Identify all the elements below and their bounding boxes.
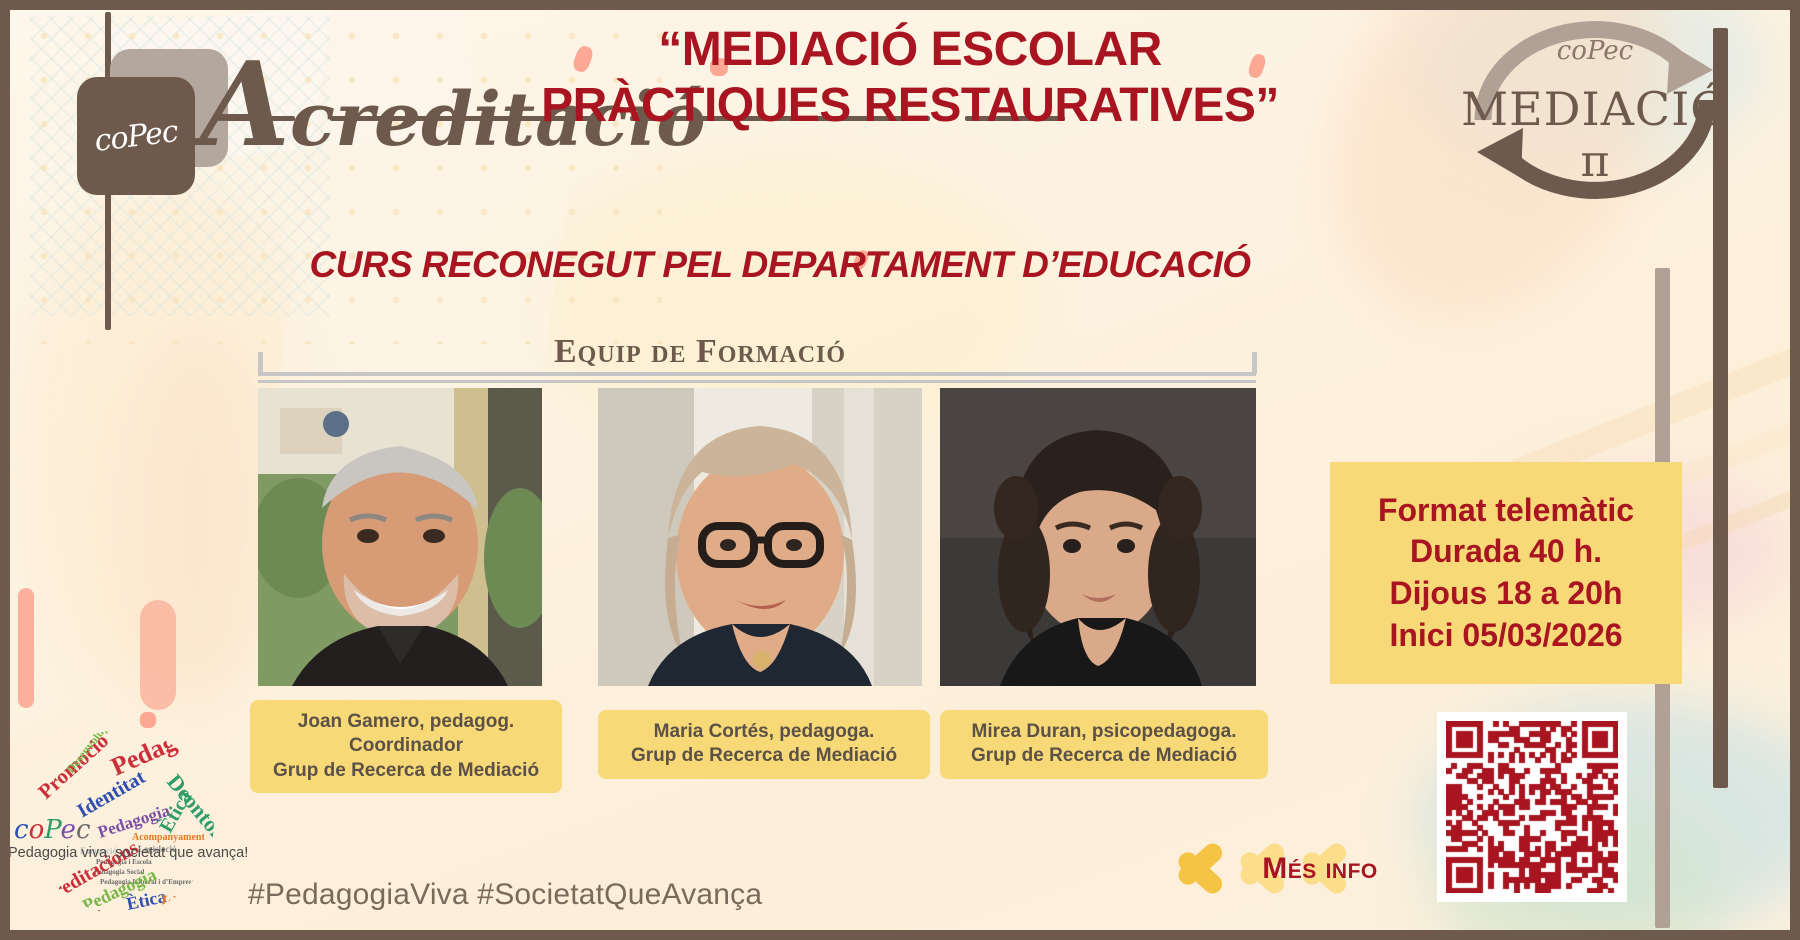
copec-script-mark: coPec (70, 70, 202, 202)
team-frame-rule-top-secondary (258, 380, 1256, 383)
poster-canvas: coPec Acreditació coPec MEDIACIÓ π “MEDI… (0, 0, 1800, 940)
coral-bar-left-2 (140, 600, 176, 710)
qr-code[interactable] (1437, 712, 1627, 902)
course-start-date: Inici 05/03/2026 (1389, 615, 1622, 657)
team-member-group: Grup de Recerca de Mediació (946, 744, 1262, 768)
team-member-role: Coordinador (256, 734, 556, 758)
mediacio-logo: coPec MEDIACIÓ π (1445, 8, 1745, 208)
poster-title-line-1: “MEDIACIÓ ESCOLAR (380, 22, 1440, 78)
coral-bar-left (18, 588, 34, 708)
more-info-cta[interactable]: Més info (1175, 828, 1445, 910)
team-frame-rule-top (258, 372, 1256, 376)
team-member-name: Joan Gamero, pedagog. (256, 710, 556, 734)
poster-title: “MEDIACIÓ ESCOLAR PRÀCTIQUES RESTAURATIV… (380, 22, 1440, 134)
team-member-group: Grup de Recerca de Mediació (604, 744, 924, 768)
qr-code-canvas (1446, 721, 1618, 893)
team-member-caption: Joan Gamero, pedagog. Coordinador Grup d… (250, 700, 562, 793)
poster-title-line-2: PRÀCTIQUES RESTAURATIVES” (380, 78, 1440, 134)
team-member-photo (940, 388, 1256, 686)
team-member-card: Maria Cortés, pedagoga. Grup de Recerca … (598, 388, 922, 779)
team-member-name: Mirea Duran, psicopedagoga. (946, 720, 1262, 744)
svg-text:Acompanyament: Acompanyament (132, 832, 205, 843)
team-member-photo (258, 388, 542, 686)
course-format: Format telemàtic (1378, 490, 1634, 532)
hashtags: #PedagogiaViva #SocietatQueAvança (248, 878, 762, 912)
team-member-name: Maria Cortés, pedagoga. (604, 720, 924, 744)
poster-frame-top (0, 0, 1800, 10)
wordcloud-tagline: Pedagogia viva, societat que avança! (8, 845, 218, 861)
mediacio-wordmark: MEDIACIÓ (1445, 82, 1745, 136)
team-frame-tick-left (258, 352, 263, 374)
mediacio-pi-symbol: π (1445, 136, 1745, 187)
team-member-card: Joan Gamero, pedagog. Coordinador Grup d… (258, 388, 542, 793)
svg-text:Pedagogia: Pedagogia (107, 722, 223, 781)
mediacio-copec-script: coPec (1445, 36, 1745, 66)
course-duration: Durada 40 h. (1410, 531, 1602, 573)
course-schedule: Dijous 18 a 20h (1390, 573, 1623, 615)
poster-frame-left (0, 0, 10, 940)
wordcloud-copec-script: coPec (14, 815, 91, 845)
team-member-caption: Mirea Duran, psicopedagoga. Grup de Rece… (940, 710, 1268, 779)
portrait-maria-cortes (598, 388, 922, 686)
svg-text:Identitat: Identitat (159, 891, 225, 919)
portrait-mirea-duran (940, 388, 1256, 686)
more-info-label: Més info (1205, 852, 1435, 886)
team-member-group: Grup de Recerca de Mediació (256, 759, 556, 783)
acreditacio-initial: A (200, 37, 290, 173)
course-info-box: Format telemàtic Durada 40 h. Dijous 18 … (1330, 462, 1682, 684)
portrait-joan-gamero (258, 388, 542, 686)
poster-frame-bottom (0, 930, 1800, 940)
team-section-heading: Equip de Formació (430, 333, 970, 371)
poster-frame-right (1790, 0, 1800, 940)
svg-text:Promocio: Promocio (40, 907, 110, 922)
team-member-card: Mirea Duran, psicopedagoga. Grup de Rece… (940, 388, 1256, 779)
team-frame-tick-right (1252, 352, 1257, 374)
team-member-photo (598, 388, 922, 686)
team-member-caption: Maria Cortés, pedagoga. Grup de Recerca … (598, 710, 930, 779)
poster-subtitle: CURS RECONEGUT PEL DEPARTAMENT D’EDUCACI… (250, 244, 1310, 286)
